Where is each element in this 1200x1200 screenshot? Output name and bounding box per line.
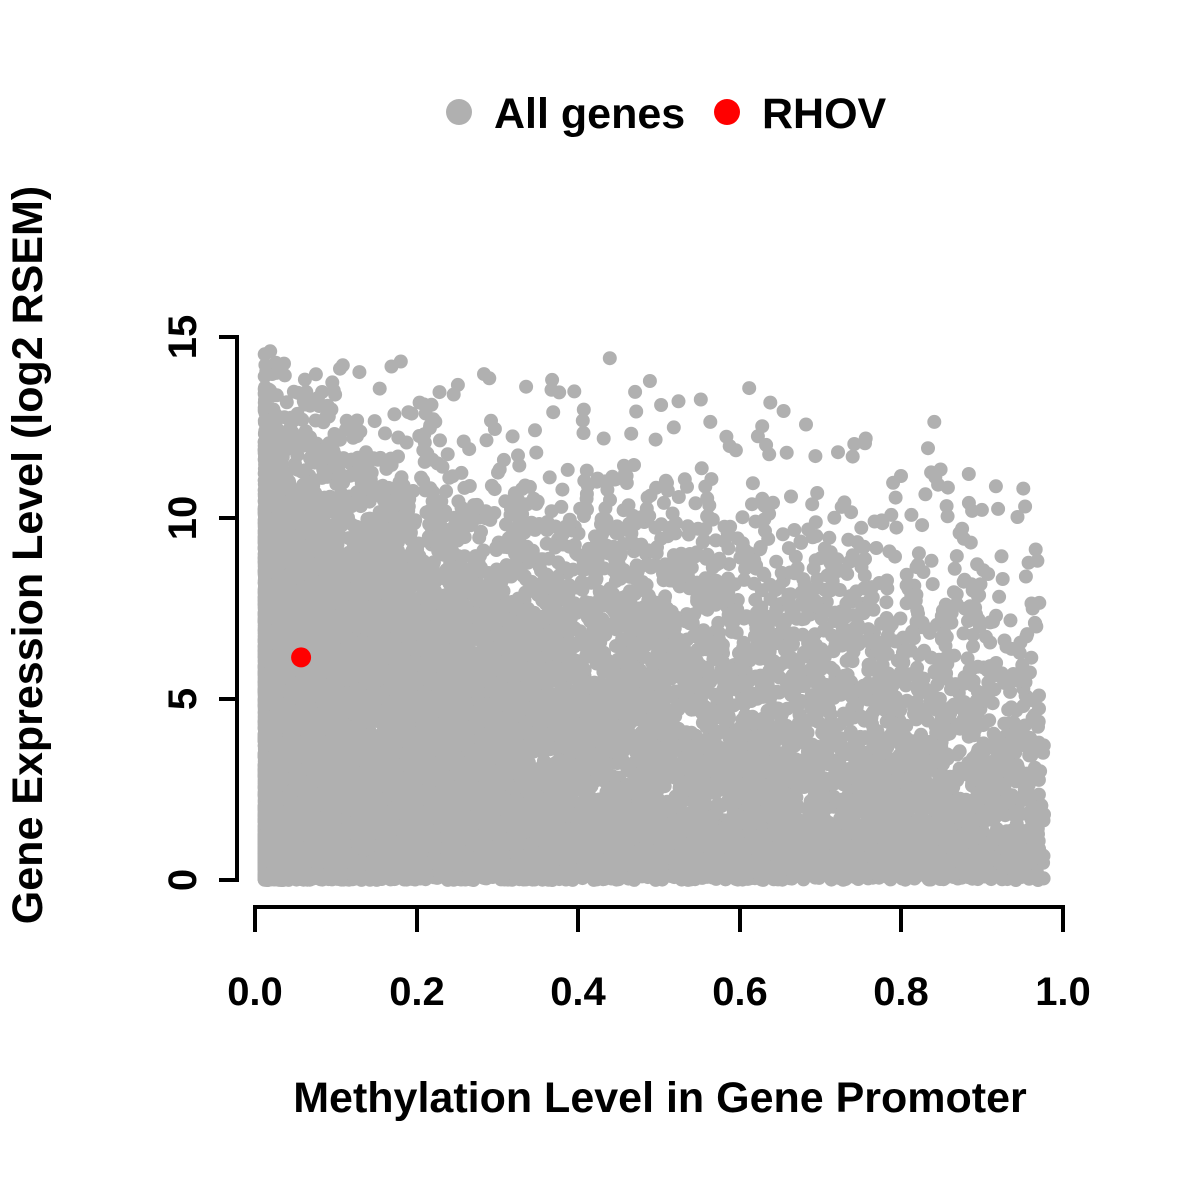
data-point [894,469,908,483]
data-point [368,414,382,428]
data-point [597,432,611,446]
data-point [880,574,894,588]
scatter-plot-figure: 15 10 5 0 Gene Expression Level (log2 RS… [0,0,1200,1200]
data-point [340,414,354,428]
data-point [996,572,1010,586]
data-point [991,502,1005,516]
data-point [485,479,499,493]
data-point [567,384,581,398]
data-point [799,418,813,432]
data-point [931,478,945,492]
data-point [1004,613,1018,627]
data-point [948,562,962,576]
data-point [649,433,663,447]
plot-canvas: 15 10 5 0 Gene Expression Level (log2 RS… [0,0,1200,1200]
data-point [654,398,668,412]
data-point [746,476,760,490]
data-point [629,405,643,419]
data-point [809,515,823,529]
